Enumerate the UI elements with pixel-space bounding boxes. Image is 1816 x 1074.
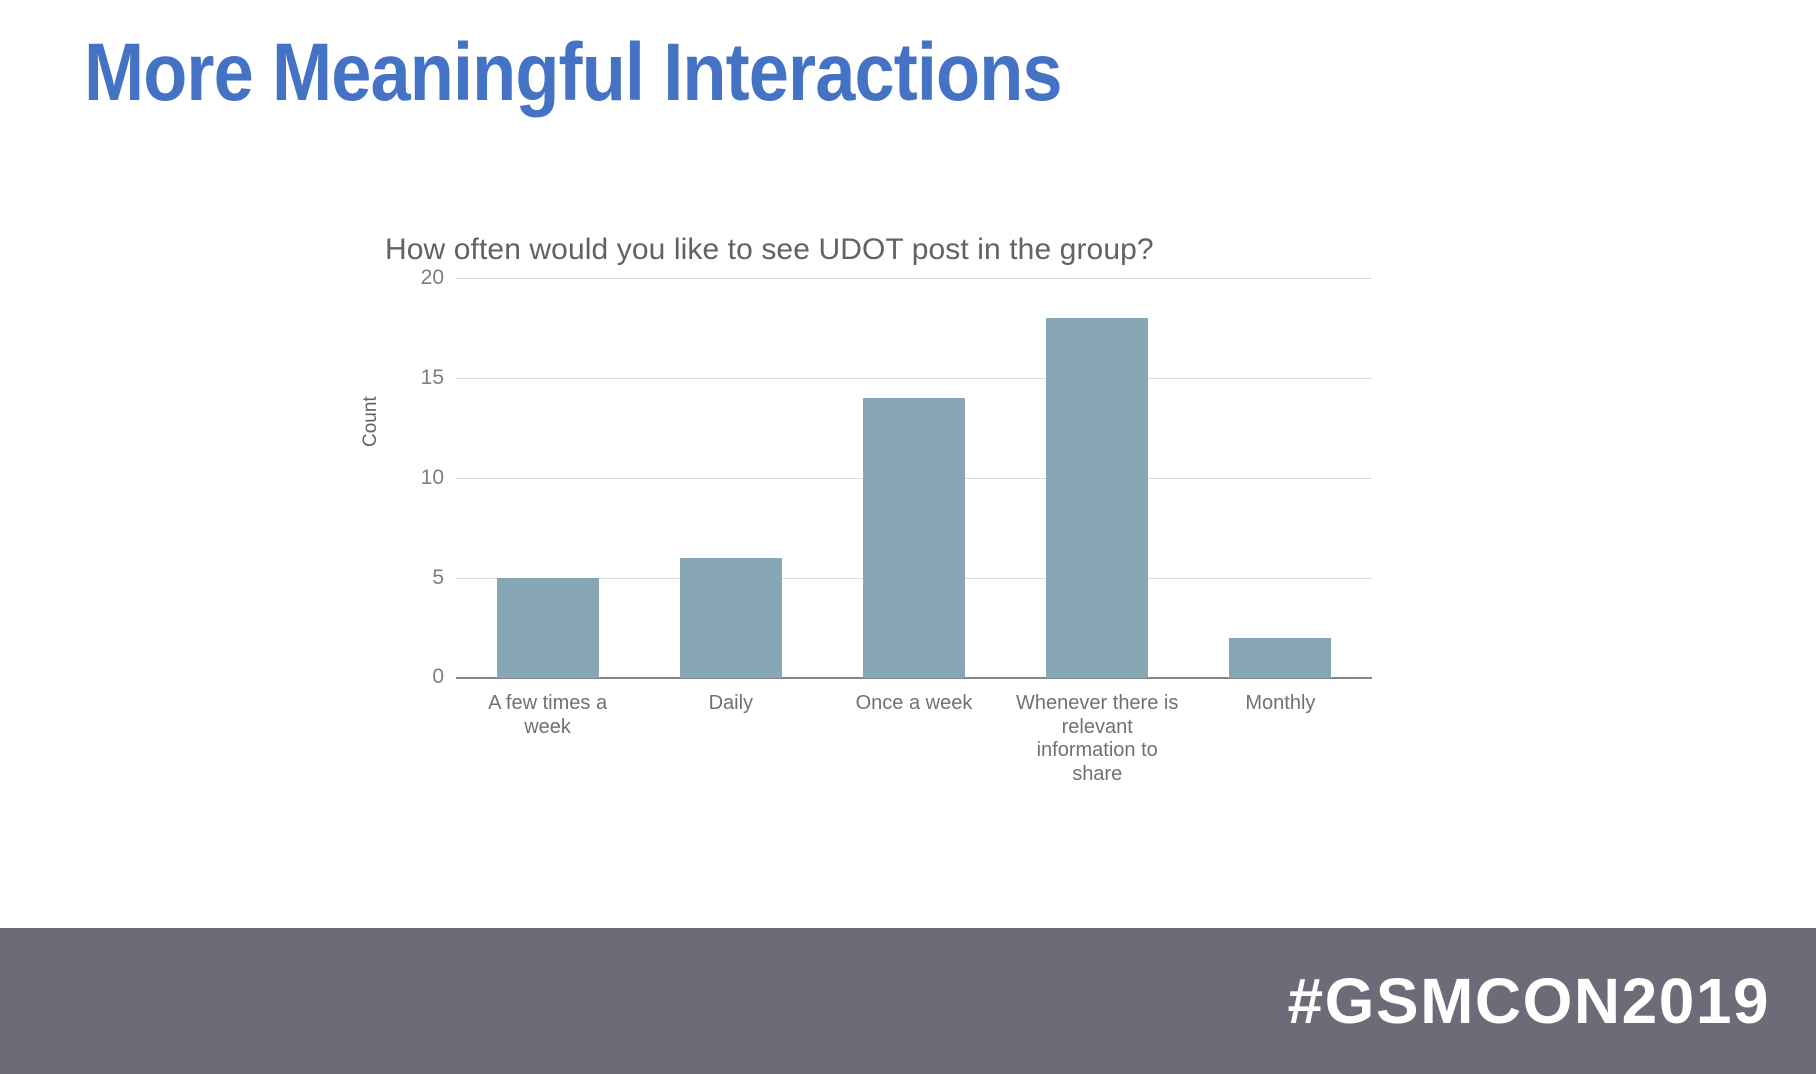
x-tick-label: Once a week bbox=[829, 692, 999, 716]
bar[interactable] bbox=[1229, 638, 1331, 678]
y-tick-label: 20 bbox=[421, 266, 444, 290]
x-tick-label: A few times a week bbox=[463, 692, 633, 739]
bar-series: A few times a week Daily Once a week Whe… bbox=[456, 278, 1372, 678]
x-tick-label: Daily bbox=[646, 692, 816, 716]
y-tick-label: 15 bbox=[421, 366, 444, 390]
x-tick-label: Whenever there is relevant information t… bbox=[1012, 692, 1182, 786]
page-title: More Meaningful Interactions bbox=[84, 28, 1062, 118]
footer-bar: #GSMCON2019 bbox=[0, 928, 1816, 1074]
y-tick-label: 10 bbox=[421, 466, 444, 490]
plot-area: 20 15 10 5 0 A few times a week bbox=[456, 278, 1372, 678]
conference-hashtag: #GSMCON2019 bbox=[1288, 964, 1770, 1038]
bar[interactable] bbox=[863, 398, 965, 678]
y-axis-label: Count bbox=[360, 396, 382, 447]
bar[interactable] bbox=[680, 558, 782, 678]
bar-slot: Whenever there is relevant information t… bbox=[1006, 278, 1189, 678]
bar-slot: A few times a week bbox=[456, 278, 639, 678]
x-tick-label: Monthly bbox=[1195, 692, 1365, 716]
y-tick-label: 5 bbox=[432, 566, 444, 590]
y-tick-label: 0 bbox=[432, 665, 444, 689]
bar-slot: Monthly bbox=[1189, 278, 1372, 678]
bar[interactable] bbox=[497, 578, 599, 678]
bar-chart: How often would you like to see UDOT pos… bbox=[330, 215, 1460, 855]
bar[interactable] bbox=[1046, 318, 1148, 678]
chart-title: How often would you like to see UDOT pos… bbox=[385, 233, 1154, 267]
bar-slot: Daily bbox=[639, 278, 822, 678]
bar-slot: Once a week bbox=[822, 278, 1005, 678]
